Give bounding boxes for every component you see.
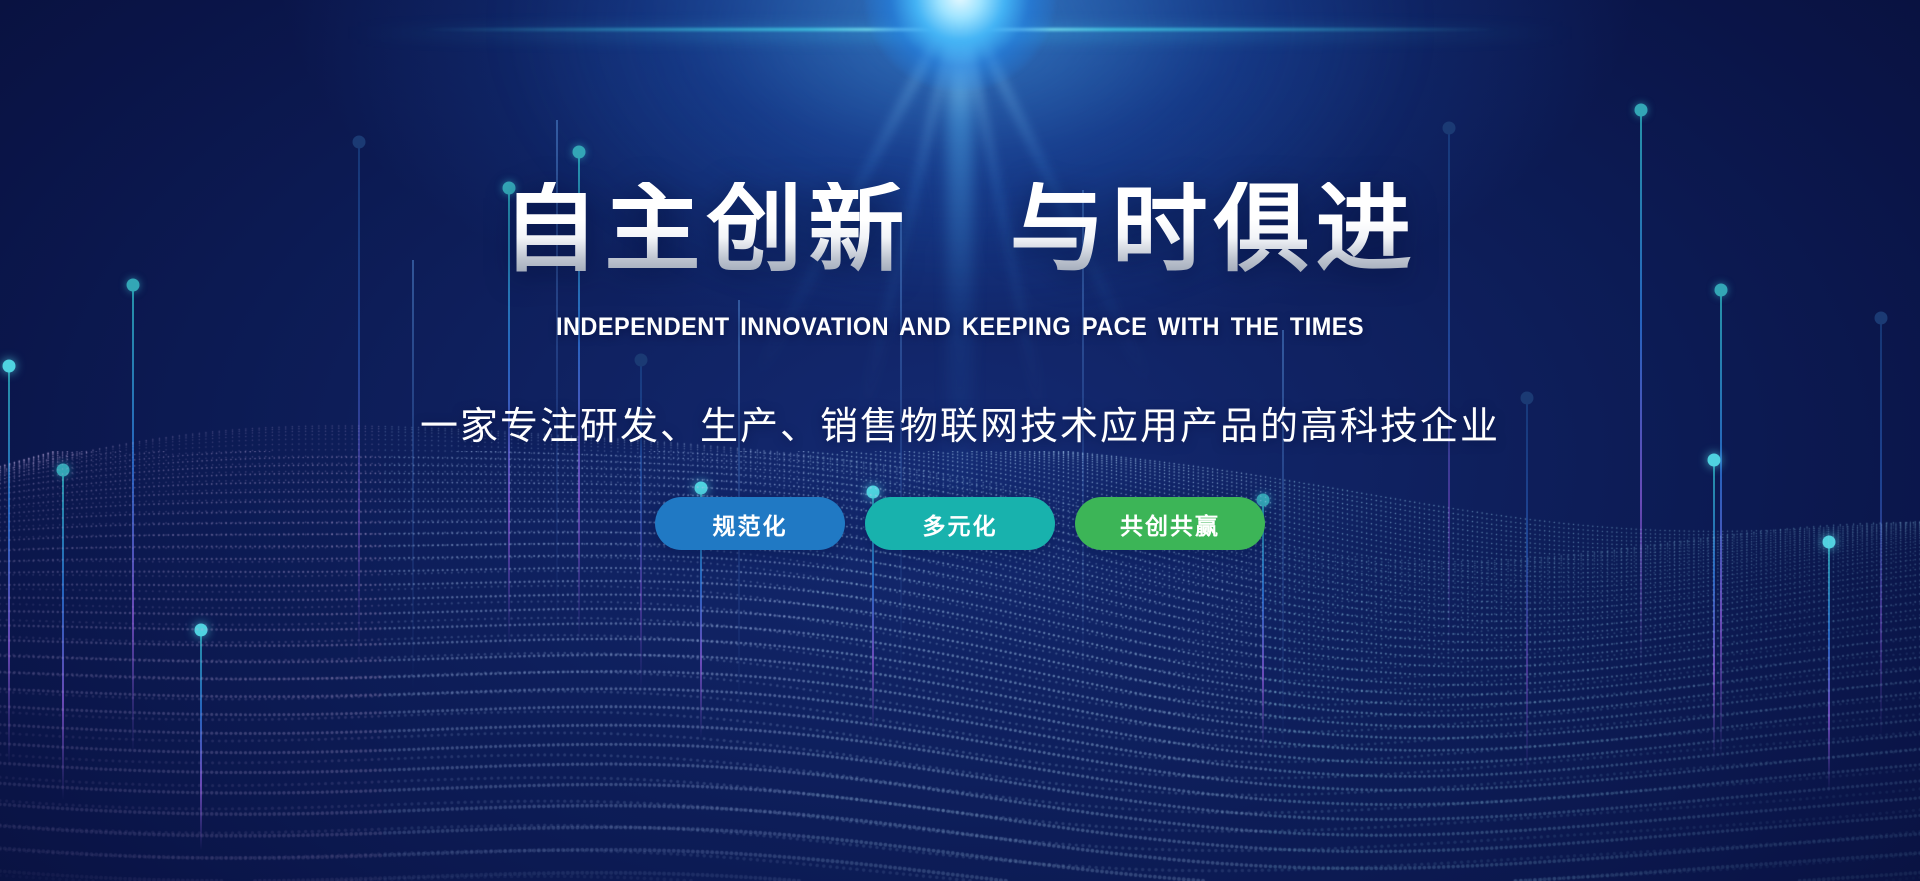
pill-diversification[interactable]: 多元化 xyxy=(865,497,1055,550)
page-title: 自主创新 与时俱进 xyxy=(0,182,1920,278)
pill-label: 多元化 xyxy=(923,507,998,541)
subtitle-english: INDEPENDENT INNOVATION AND KEEPING PACE … xyxy=(58,313,1863,342)
hero-banner: 自主创新 与时俱进 INDEPENDENT INNOVATION AND KEE… xyxy=(0,0,1920,881)
headline-right: 与时俱进 xyxy=(1010,176,1418,283)
tagline-pill-group: 规范化 多元化 共创共赢 xyxy=(0,497,1920,550)
pill-label: 共创共赢 xyxy=(1120,507,1220,541)
headline-left: 自主创新 xyxy=(502,176,910,283)
pill-standardization[interactable]: 规范化 xyxy=(655,497,845,550)
pill-win-win[interactable]: 共创共赢 xyxy=(1075,497,1265,550)
pill-label: 规范化 xyxy=(713,507,788,541)
subtitle-chinese: 一家专注研发、生产、销售物联网技术应用产品的高科技企业 xyxy=(0,395,1920,450)
